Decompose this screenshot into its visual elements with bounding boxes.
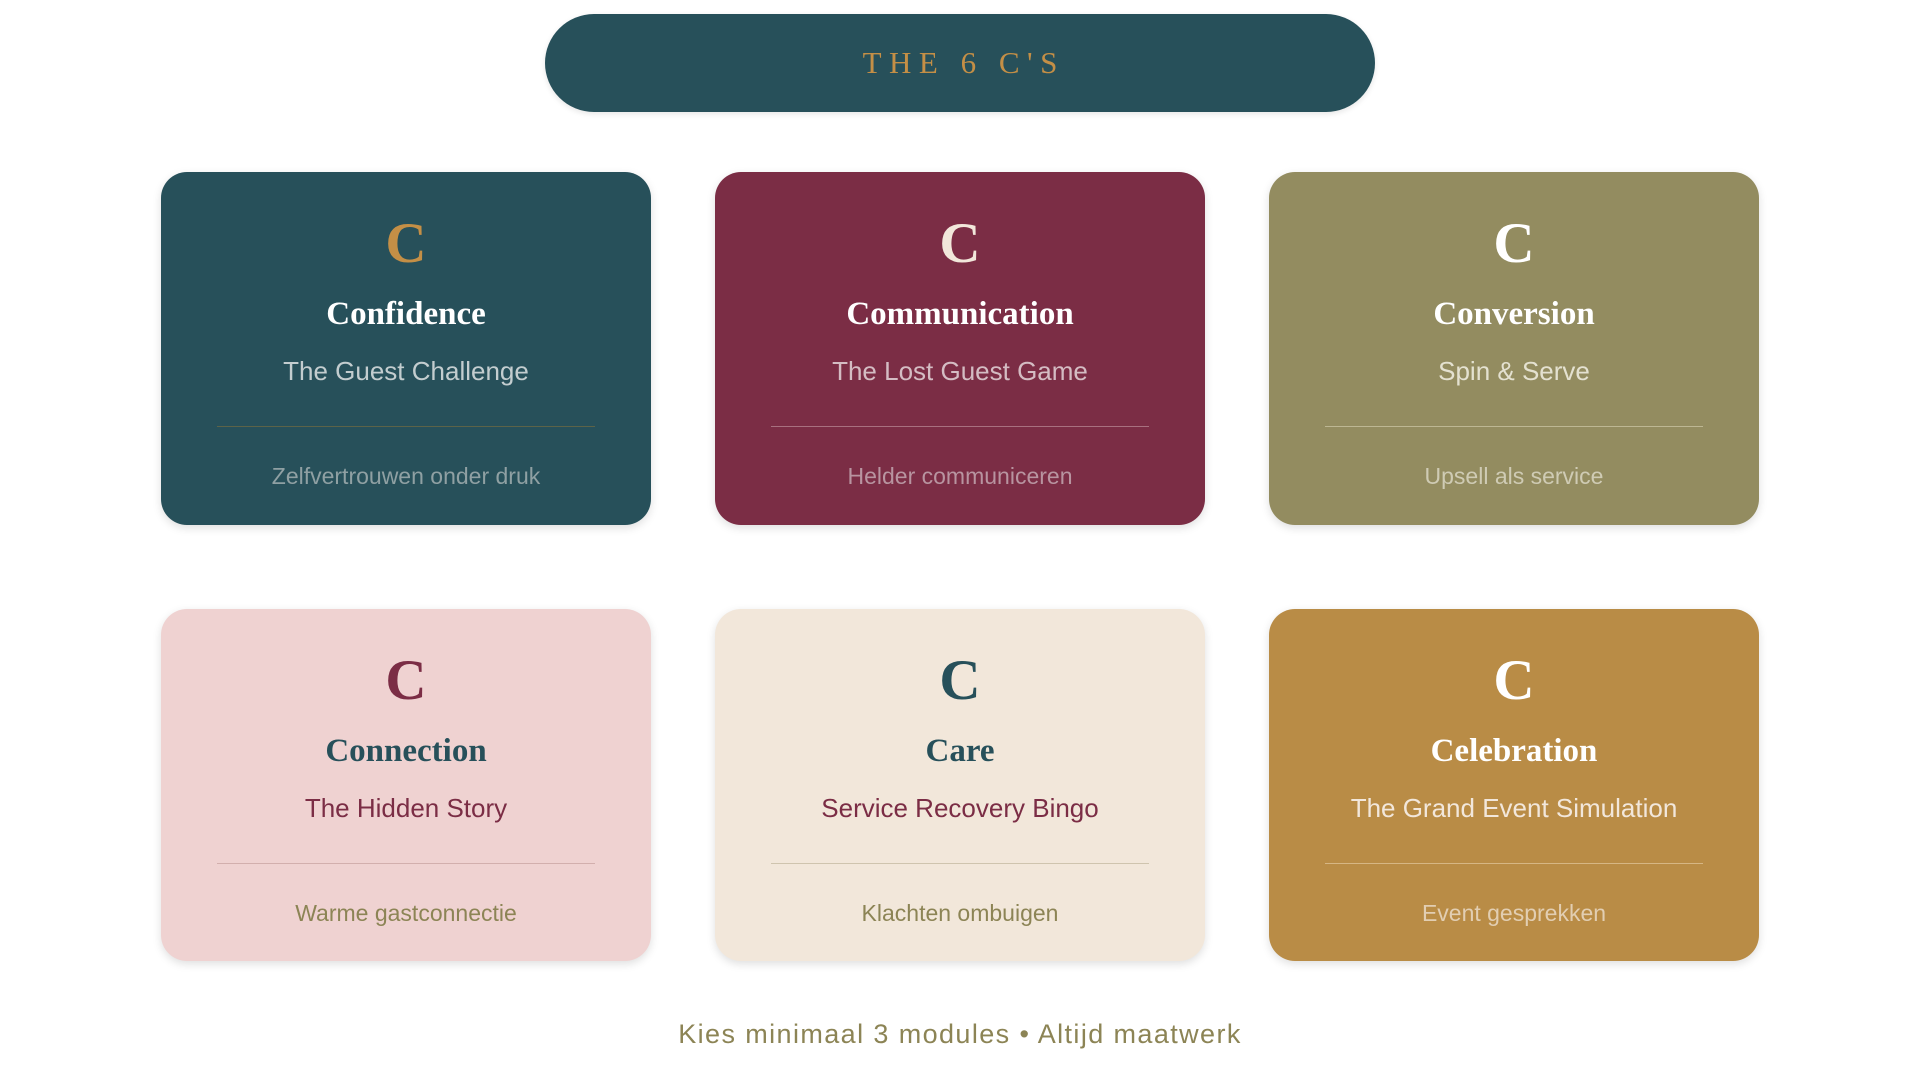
card-letter-glyph: C <box>939 215 980 272</box>
card-letter-glyph: C <box>939 652 980 709</box>
module-card-connection[interactable]: C Connection The Hidden Story Warme gast… <box>161 609 651 961</box>
card-divider <box>217 426 595 427</box>
card-subtitle: The Hidden Story <box>305 795 507 821</box>
module-card-care[interactable]: C Care Service Recovery Bingo Klachten o… <box>715 609 1205 961</box>
module-card-confidence[interactable]: C Confidence The Guest Challenge Zelfver… <box>161 172 651 525</box>
card-divider <box>1325 863 1703 864</box>
card-letter-glyph: C <box>385 215 426 272</box>
card-letter-glyph: C <box>385 652 426 709</box>
card-caption: Zelfvertrouwen onder druk <box>272 465 540 488</box>
card-subtitle: The Grand Event Simulation <box>1351 795 1678 821</box>
card-subtitle: Service Recovery Bingo <box>821 795 1098 821</box>
card-title: Connection <box>325 735 486 768</box>
card-letter-glyph: C <box>1493 215 1534 272</box>
card-title: Care <box>925 735 994 768</box>
header-banner: THE 6 C'S <box>545 14 1375 112</box>
card-divider <box>771 863 1149 864</box>
card-caption: Warme gastconnectie <box>295 902 517 925</box>
card-title: Communication <box>846 298 1073 331</box>
card-divider <box>217 863 595 864</box>
card-caption: Upsell als service <box>1425 465 1604 488</box>
module-card-communication[interactable]: C Communication The Lost Guest Game Held… <box>715 172 1205 525</box>
page-title: THE 6 C'S <box>855 45 1065 81</box>
footer-note: Kies minimaal 3 modules • Altijd maatwer… <box>678 1019 1242 1050</box>
card-title: Celebration <box>1431 735 1598 768</box>
card-divider <box>771 426 1149 427</box>
card-letter-glyph: C <box>1493 652 1534 709</box>
module-card-grid: C Confidence The Guest Challenge Zelfver… <box>161 172 1759 961</box>
card-subtitle: The Lost Guest Game <box>832 358 1088 384</box>
card-divider <box>1325 426 1703 427</box>
module-card-conversion[interactable]: C Conversion Spin & Serve Upsell als ser… <box>1269 172 1759 525</box>
module-card-celebration[interactable]: C Celebration The Grand Event Simulation… <box>1269 609 1759 961</box>
card-caption: Event gesprekken <box>1422 902 1606 925</box>
card-subtitle: Spin & Serve <box>1438 358 1590 384</box>
card-title: Confidence <box>326 298 486 331</box>
card-caption: Klachten ombuigen <box>862 902 1059 925</box>
card-caption: Helder communiceren <box>848 465 1073 488</box>
six-cs-infographic: THE 6 C'S C Confidence The Guest Challen… <box>0 0 1920 1080</box>
card-title: Conversion <box>1433 298 1594 331</box>
card-subtitle: The Guest Challenge <box>283 358 529 384</box>
